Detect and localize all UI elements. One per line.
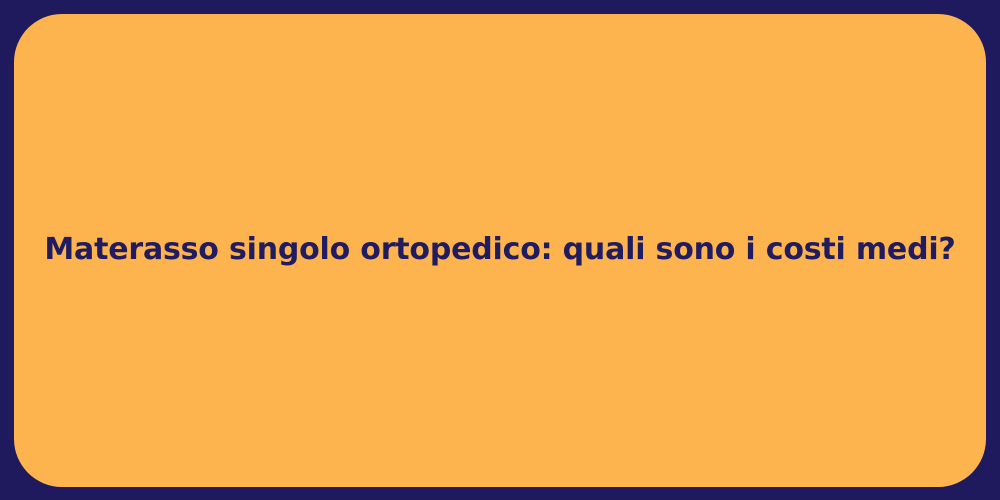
card-frame: Materasso singolo ortopedico: quali sono…	[0, 0, 1000, 500]
page-title: Materasso singolo ortopedico: quali sono…	[14, 231, 986, 269]
card-panel: Materasso singolo ortopedico: quali sono…	[14, 14, 986, 487]
